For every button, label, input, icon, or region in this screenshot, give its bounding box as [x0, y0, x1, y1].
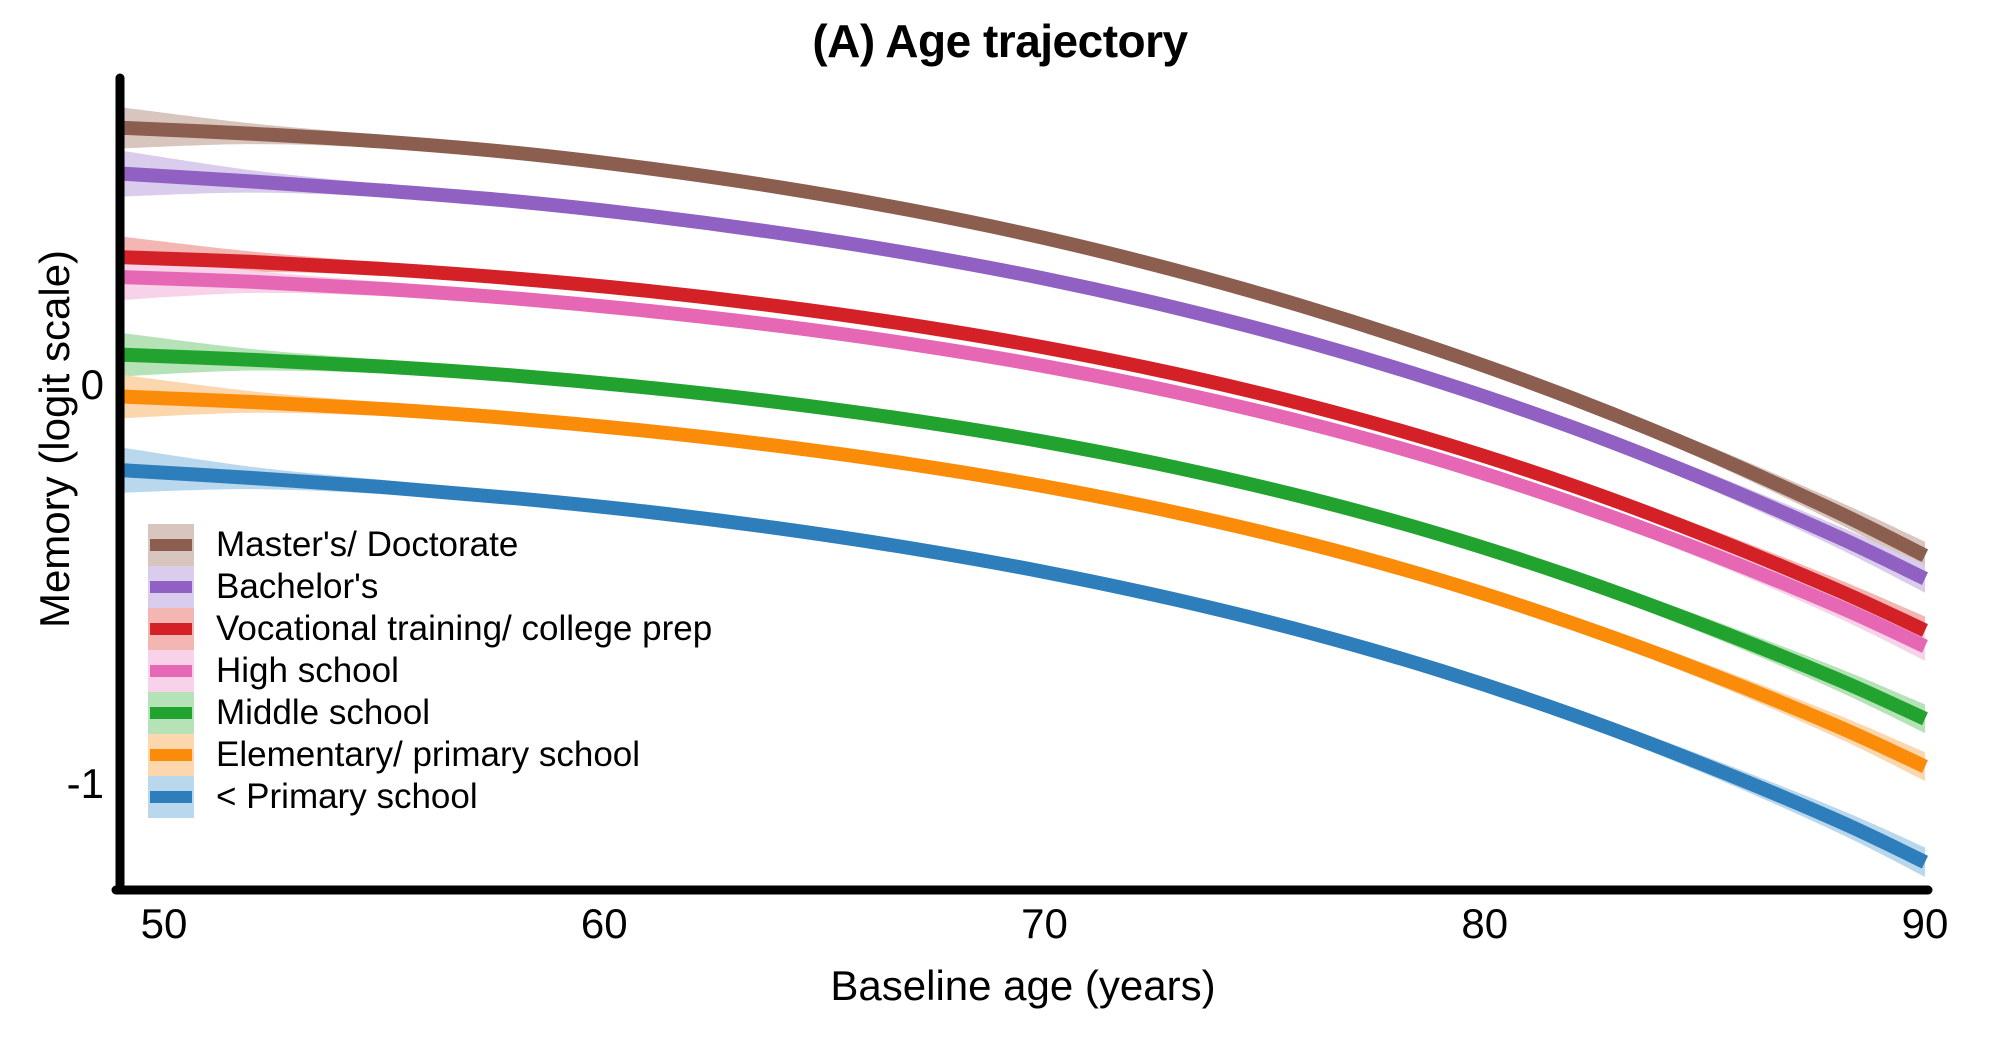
- legend-item-label: Middle school: [216, 692, 430, 734]
- chart-legend: Master's/ DoctorateBachelor'sVocational …: [148, 524, 712, 818]
- legend-item[interactable]: Elementary/ primary school: [148, 734, 712, 776]
- y-tick-label-neg1: -1: [0, 760, 104, 808]
- x-tick-label-70: 70: [985, 900, 1105, 948]
- legend-item-label: High school: [216, 650, 399, 692]
- legend-line-swatch: [150, 581, 192, 593]
- x-tick-label-60: 60: [544, 900, 664, 948]
- legend-swatch-icon: [148, 776, 194, 818]
- legend-item-label: < Primary school: [216, 776, 478, 818]
- legend-swatch-icon: [148, 566, 194, 608]
- legend-line-swatch: [150, 539, 192, 551]
- x-axis-title: Baseline age (years): [118, 962, 1928, 1010]
- plot-area: [0, 0, 2000, 1046]
- legend-line-swatch: [150, 749, 192, 761]
- legend-item[interactable]: Bachelor's: [148, 566, 712, 608]
- y-axis-title: Memory (logit scale): [31, 119, 79, 759]
- x-tick-label-90: 90: [1865, 900, 1985, 948]
- chart-figure: (A) Age trajectory Memory (logit scale) …: [0, 0, 2000, 1046]
- legend-line-swatch: [150, 665, 192, 677]
- legend-swatch-icon: [148, 608, 194, 650]
- legend-item[interactable]: Middle school: [148, 692, 712, 734]
- x-tick-label-80: 80: [1425, 900, 1545, 948]
- legend-item[interactable]: < Primary school: [148, 776, 712, 818]
- legend-item[interactable]: Vocational training/ college prep: [148, 608, 712, 650]
- legend-item-label: Elementary/ primary school: [216, 734, 640, 776]
- legend-item[interactable]: Master's/ Doctorate: [148, 524, 712, 566]
- legend-swatch-icon: [148, 734, 194, 776]
- legend-swatch-icon: [148, 692, 194, 734]
- legend-swatch-icon: [148, 650, 194, 692]
- legend-line-swatch: [150, 707, 192, 719]
- legend-item[interactable]: High school: [148, 650, 712, 692]
- legend-item-label: Vocational training/ college prep: [216, 608, 712, 650]
- legend-swatch-icon: [148, 524, 194, 566]
- legend-item-label: Master's/ Doctorate: [216, 524, 518, 566]
- legend-line-swatch: [150, 623, 192, 635]
- y-tick-label-0: 0: [0, 361, 104, 409]
- x-tick-label-50: 50: [104, 900, 224, 948]
- legend-item-label: Bachelor's: [216, 566, 378, 608]
- legend-line-swatch: [150, 791, 192, 803]
